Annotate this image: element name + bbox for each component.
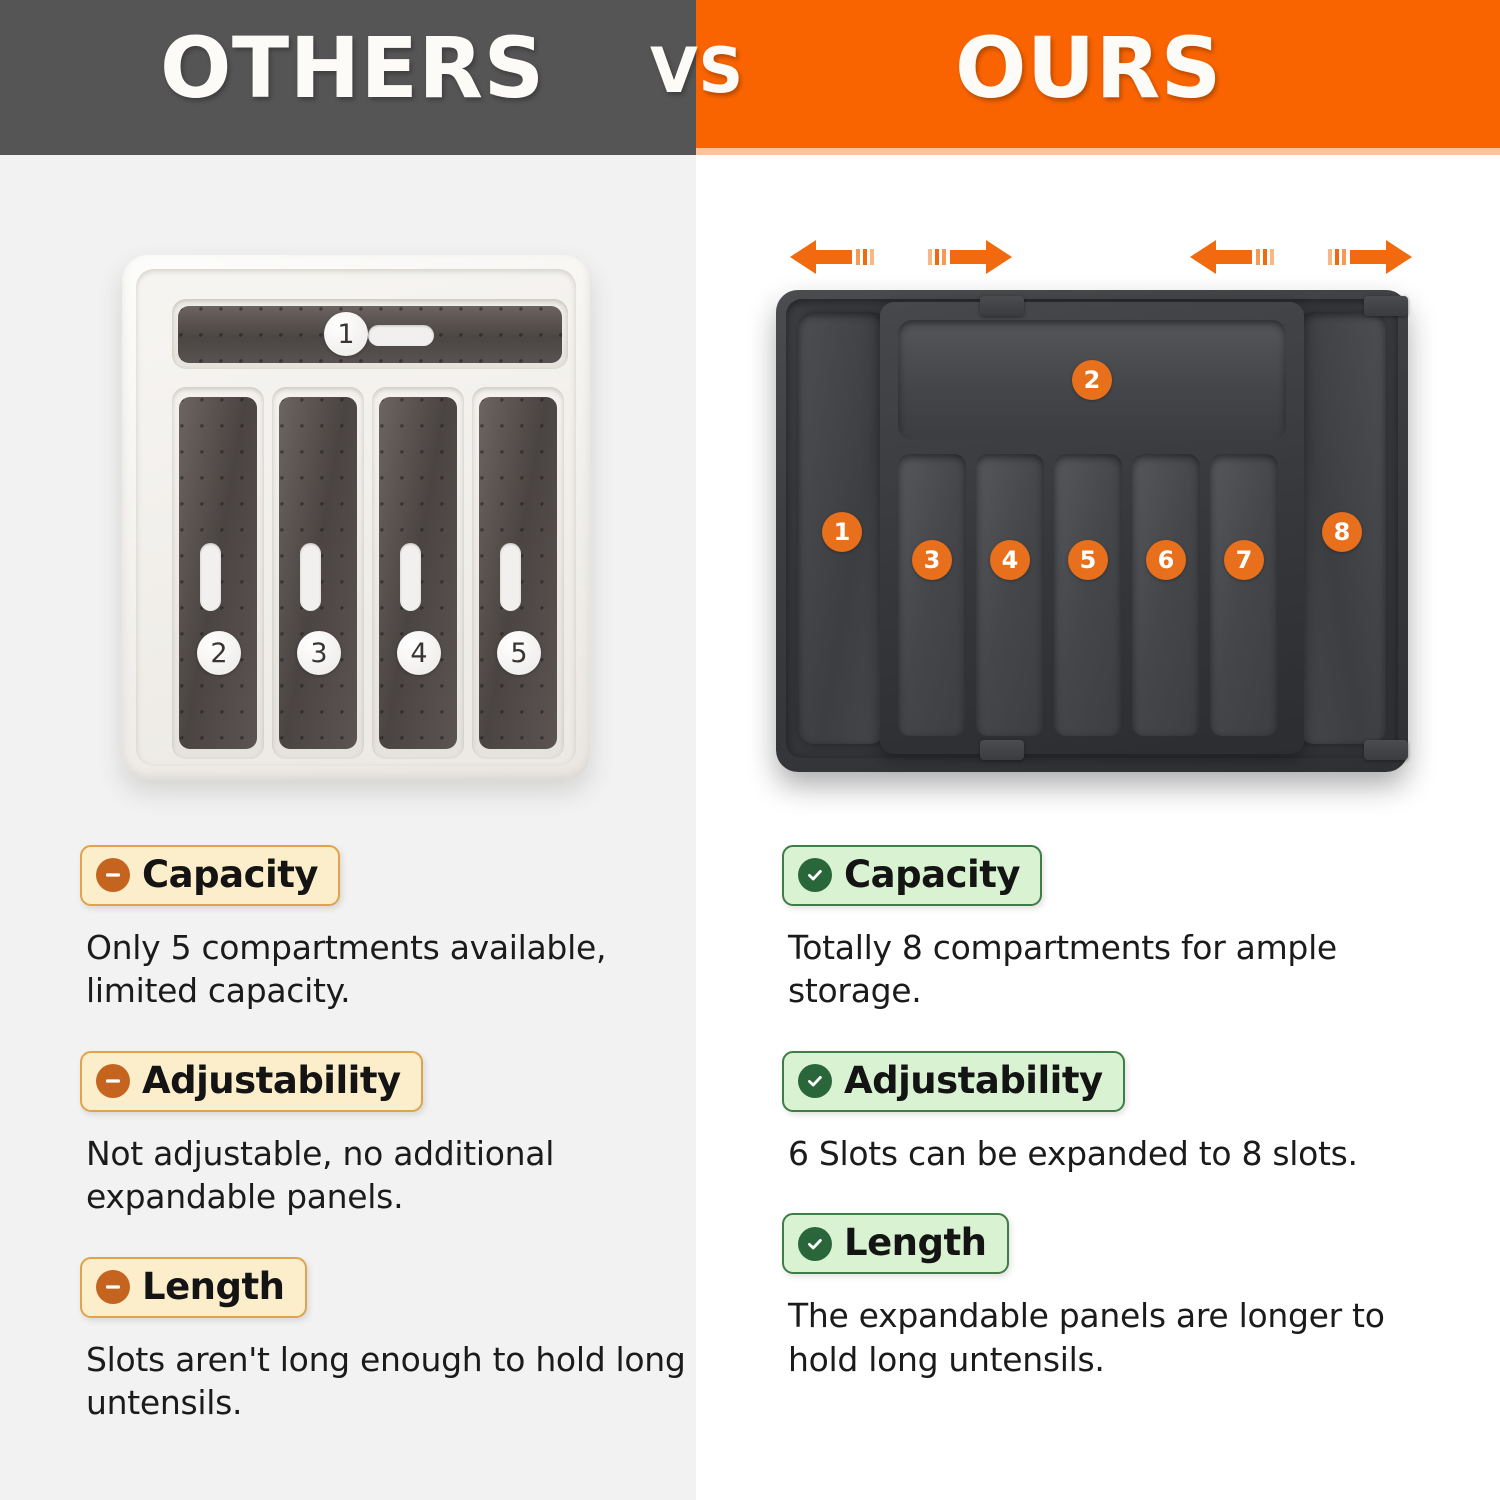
ours-badge-8: 8 [1322, 512, 1362, 552]
ours-badge-5: 5 [1068, 540, 1108, 580]
locking-tab-icon [1364, 296, 1408, 316]
check-circle-icon [798, 1064, 832, 1098]
others-capacity-tag: Capacity [80, 845, 340, 906]
others-length-description: Slots aren't long enough to hold long un… [86, 1338, 686, 1425]
others-adjustability-tag: Adjustability [80, 1051, 423, 1112]
header-accent-strip [696, 148, 1500, 155]
others-capacity-tag-label: Capacity [142, 856, 318, 895]
others-badge-4: 4 [397, 631, 441, 675]
ours-tray-core: 2 3 4 5 6 7 [880, 302, 1304, 754]
others-badge-1: 1 [324, 312, 368, 356]
locking-tab-icon [980, 740, 1024, 760]
ours-badge-3: 3 [912, 540, 952, 580]
others-compartment-3: 3 [272, 387, 364, 759]
ours-feature-column: Capacity Totally 8 compartments for ampl… [782, 845, 1422, 1419]
minus-circle-icon [96, 1270, 130, 1304]
ours-compartment-2: 2 [898, 320, 1286, 440]
header-others-title: OTHERS [160, 26, 545, 110]
feature-comparison-lists: Capacity Only 5 compartments available, … [0, 845, 1500, 1500]
ours-length-description: The expandable panels are longer to hold… [788, 1294, 1388, 1381]
others-badge-2: 2 [197, 631, 241, 675]
header-bar: OTHERS VS OURS [0, 0, 1500, 155]
others-length-tag-label: Length [142, 1268, 285, 1307]
expansion-arrows-group [772, 230, 1412, 286]
others-feature-adjustability: Adjustability Not adjustable, no additio… [80, 1051, 720, 1219]
ours-compartment-5: 5 [1054, 454, 1122, 736]
locking-tab-icon [980, 296, 1024, 316]
arrow-right-icon [920, 238, 1012, 276]
others-feature-column: Capacity Only 5 compartments available, … [80, 845, 720, 1463]
ours-capacity-tag-label: Capacity [844, 856, 1020, 895]
header-vs-label: VS [650, 40, 744, 102]
others-drain-pill-4 [400, 543, 421, 611]
check-circle-icon [798, 858, 832, 892]
arrow-left-icon [790, 238, 882, 276]
ours-tray-body: 1 8 2 3 4 [776, 290, 1408, 772]
header-ours-title: OURS [955, 26, 1222, 110]
others-tray-image: 1 2 3 [122, 255, 590, 780]
ours-compartment-8: 8 [1298, 312, 1386, 744]
ours-compartment-1: 1 [798, 312, 886, 744]
comparison-infographic: OTHERS VS OURS 1 2 [0, 0, 1500, 1500]
ours-adjustability-tag: Adjustability [782, 1051, 1125, 1112]
others-drain-pill-5 [500, 543, 521, 611]
others-capacity-description: Only 5 compartments available, limited c… [86, 926, 686, 1013]
others-feature-capacity: Capacity Only 5 compartments available, … [80, 845, 720, 1013]
ours-compartment-3: 3 [898, 454, 966, 736]
ours-compartment-6: 6 [1132, 454, 1200, 736]
ours-badge-2: 2 [1072, 360, 1112, 400]
locking-tab-icon [1364, 740, 1408, 760]
ours-length-tag: Length [782, 1213, 1009, 1274]
others-length-tag: Length [80, 1257, 307, 1318]
others-compartment-1: 1 [172, 299, 568, 369]
arrow-left-icon [1190, 238, 1282, 276]
ours-badge-4: 4 [990, 540, 1030, 580]
others-badge-5: 5 [497, 631, 541, 675]
product-images-area: 1 2 3 [0, 155, 1500, 845]
ours-badge-6: 6 [1146, 540, 1186, 580]
ours-capacity-tag: Capacity [782, 845, 1042, 906]
others-drain-pill-2 [200, 543, 221, 611]
others-compartment-5: 5 [472, 387, 564, 759]
others-tray-inner-basin: 1 2 3 [136, 269, 576, 766]
ours-feature-capacity: Capacity Totally 8 compartments for ampl… [782, 845, 1422, 1013]
ours-compartment-4: 4 [976, 454, 1044, 736]
others-compartment-4: 4 [372, 387, 464, 759]
ours-adjustability-description: 6 Slots can be expanded to 8 slots. [788, 1132, 1388, 1176]
check-circle-icon [798, 1227, 832, 1261]
ours-badge-1: 1 [822, 512, 862, 552]
ours-badge-7: 7 [1224, 540, 1264, 580]
ours-adjustability-tag-label: Adjustability [844, 1062, 1103, 1101]
arrow-right-icon [1320, 238, 1412, 276]
others-drain-pill-1 [368, 325, 434, 346]
ours-feature-length: Length The expandable panels are longer … [782, 1213, 1422, 1381]
others-adjustability-tag-label: Adjustability [142, 1062, 401, 1101]
others-compartment-2: 2 [172, 387, 264, 759]
minus-circle-icon [96, 858, 130, 892]
others-drain-pill-3 [300, 543, 321, 611]
ours-tray-image: 1 8 2 3 4 [772, 230, 1412, 780]
ours-feature-adjustability: Adjustability 6 Slots can be expanded to… [782, 1051, 1422, 1175]
others-feature-length: Length Slots aren't long enough to hold … [80, 1257, 720, 1425]
ours-length-tag-label: Length [844, 1224, 987, 1263]
ours-capacity-description: Totally 8 compartments for ample storage… [788, 926, 1388, 1013]
others-badge-3: 3 [297, 631, 341, 675]
minus-circle-icon [96, 1064, 130, 1098]
others-adjustability-description: Not adjustable, no additional expandable… [86, 1132, 686, 1219]
ours-compartment-7: 7 [1210, 454, 1278, 736]
